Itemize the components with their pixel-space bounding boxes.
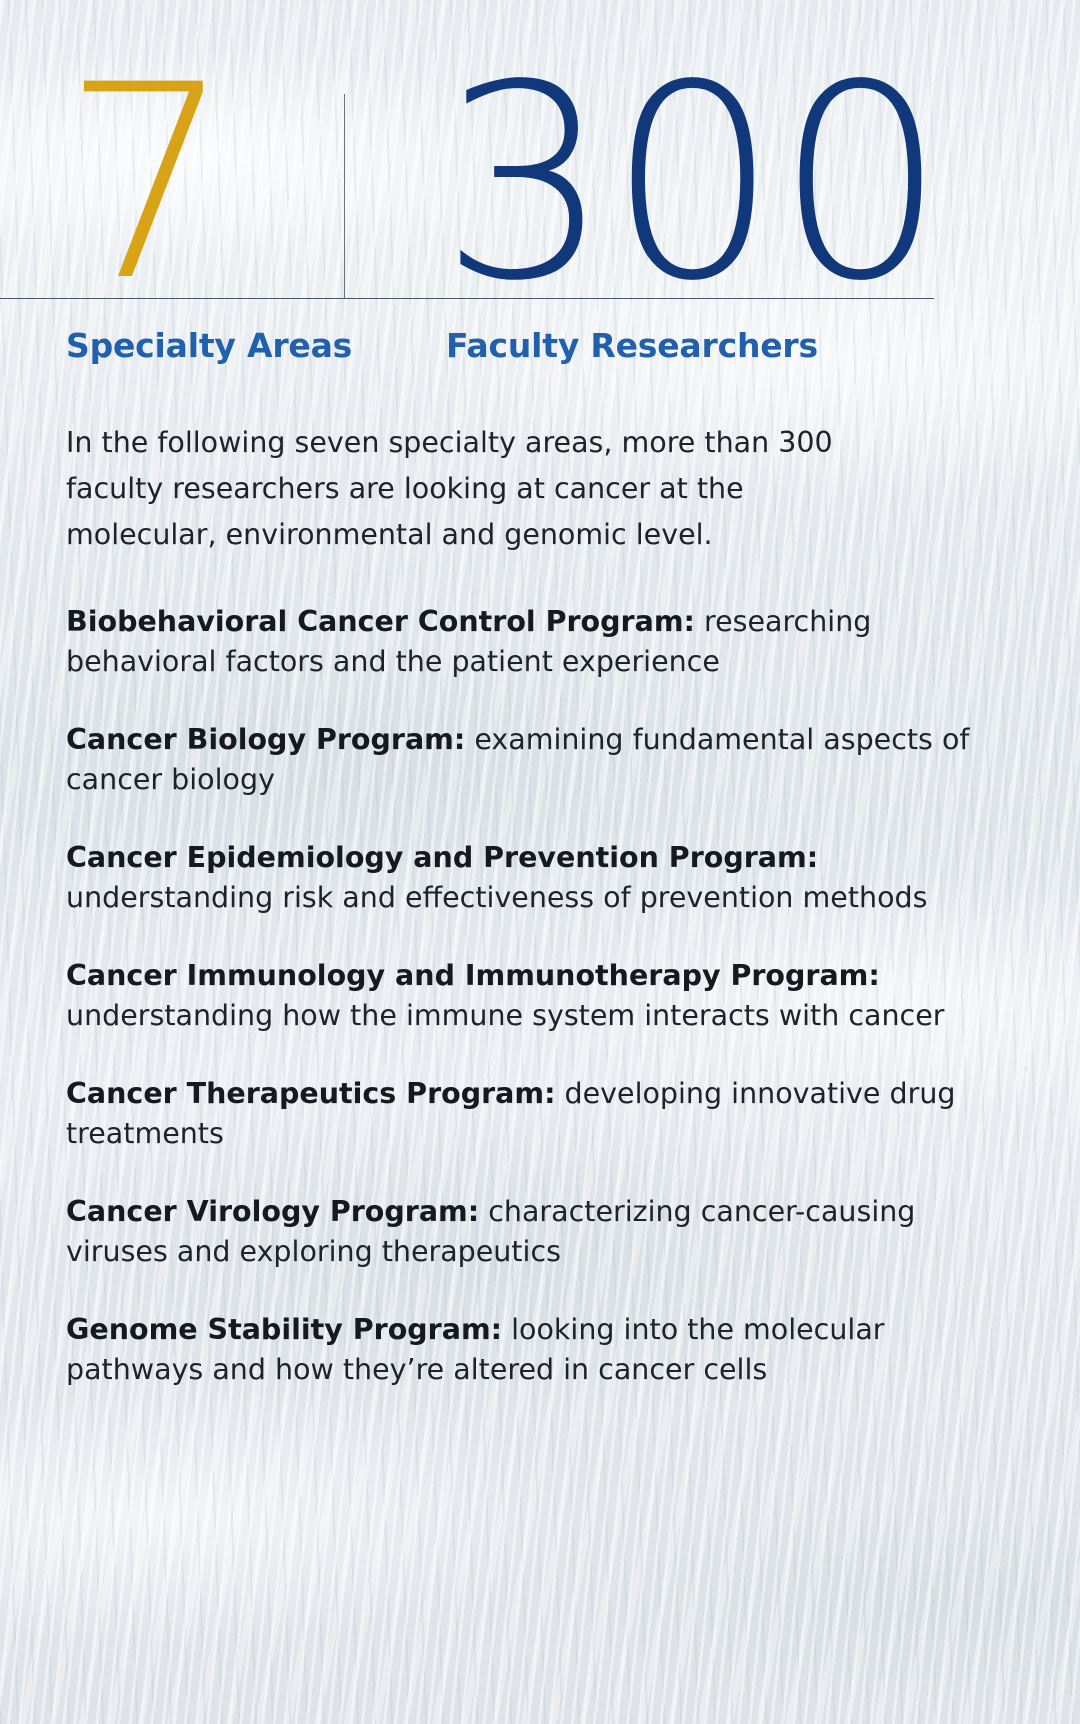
program-item-biobehavioral-cancer-control: Biobehavioral Cancer Control Program: re… [66, 602, 981, 682]
program-name: Biobehavioral Cancer Control Program: [66, 605, 695, 638]
statistics-band: 7 300 [0, 0, 1080, 300]
body-copy: In the following seven specialty areas, … [66, 420, 986, 1390]
intro-paragraph: In the following seven specialty areas, … [66, 420, 866, 558]
stat-label-specialty-areas: Specialty Areas [66, 326, 352, 365]
stat-divider-tick [344, 94, 345, 299]
program-item-cancer-epidemiology-and-prevention: Cancer Epidemiology and Prevention Progr… [66, 838, 981, 918]
program-description: understanding risk and effectiveness of … [66, 881, 927, 914]
program-item-cancer-biology: Cancer Biology Program: examining fundam… [66, 720, 981, 800]
infographic-content: 7 300 Specialty Areas Faculty Researcher… [0, 0, 1080, 1390]
statistics-labels: Specialty Areas Faculty Researchers [0, 326, 1080, 384]
stat-label-faculty-researchers: Faculty Researchers [446, 326, 818, 365]
program-description: understanding how the immune system inte… [66, 999, 944, 1032]
program-item-cancer-therapeutics: Cancer Therapeutics Program: developing … [66, 1074, 981, 1154]
program-name: Cancer Virology Program: [66, 1195, 479, 1228]
stat-value-faculty-researchers: 300 [440, 50, 944, 318]
stat-baseline-rule [0, 298, 934, 299]
program-item-cancer-virology: Cancer Virology Program: characterizing … [66, 1192, 981, 1272]
program-name: Cancer Immunology and Immunotherapy Prog… [66, 959, 880, 992]
program-item-genome-stability: Genome Stability Program: looking into t… [66, 1310, 981, 1390]
program-item-cancer-immunology-and-immunotherapy: Cancer Immunology and Immunotherapy Prog… [66, 956, 981, 1036]
program-name: Genome Stability Program: [66, 1313, 502, 1346]
program-name: Cancer Biology Program: [66, 723, 465, 756]
program-name: Cancer Epidemiology and Prevention Progr… [66, 841, 818, 874]
program-name: Cancer Therapeutics Program: [66, 1077, 555, 1110]
stat-value-specialty-areas: 7 [62, 50, 230, 318]
